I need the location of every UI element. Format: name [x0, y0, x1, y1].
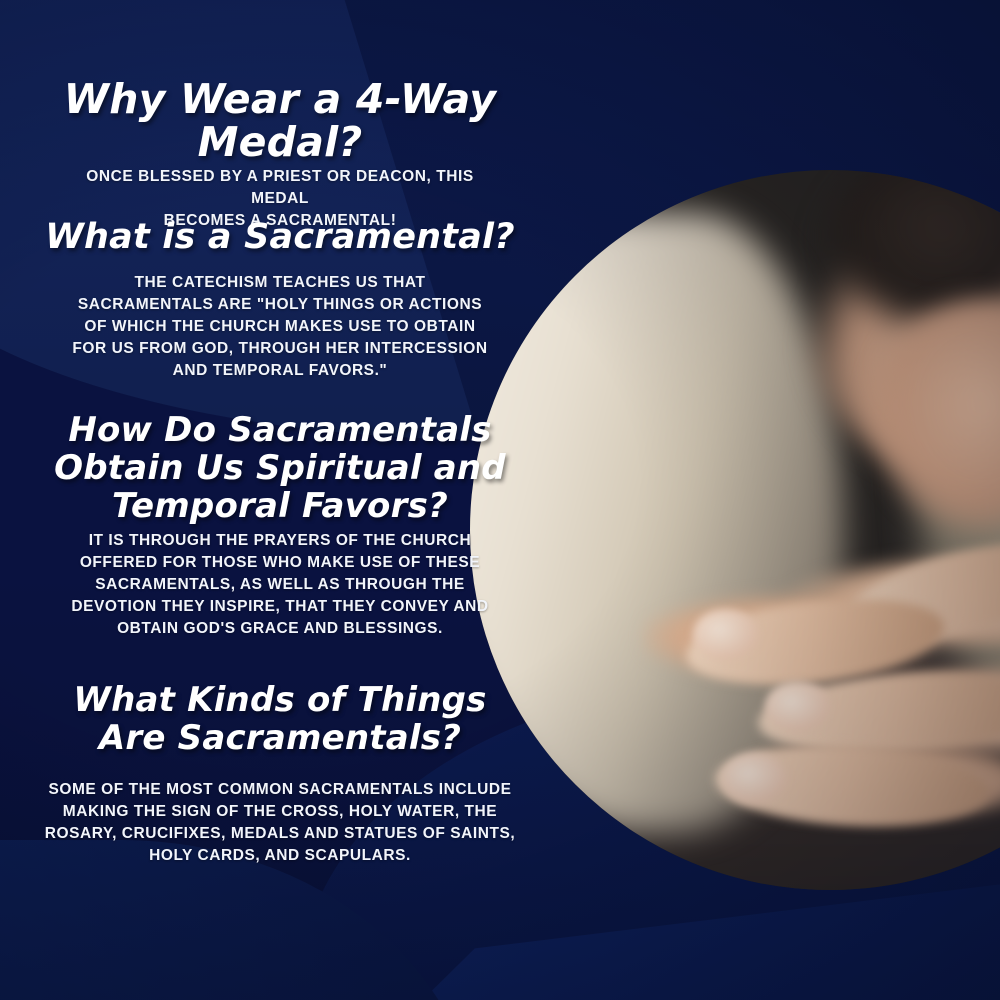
section-heading-how-do-sacramentals-obtain: How Do Sacramentals Obtain Us Spiritual … — [24, 411, 536, 525]
poster-text-column: Why Wear a 4-Way Medal? ONCE BLESSED BY … — [0, 0, 560, 1000]
section-body-how-do-sacramentals-obtain: IT IS THROUGH THE PRAYERS OF THE CHURCH … — [18, 530, 542, 640]
section-body-what-is-a-sacramental: THE CATECHISM TEACHES US THAT SACRAMENTA… — [26, 272, 534, 382]
poster-canvas: Why Wear a 4-Way Medal? ONCE BLESSED BY … — [0, 0, 1000, 1000]
poster-title: Why Wear a 4-Way Medal? — [24, 78, 536, 164]
section-body-what-kinds-of-things: SOME OF THE MOST COMMON SACRAMENTALS INC… — [18, 779, 542, 867]
section-heading-what-kinds-of-things: What Kinds of Things Are Sacramentals? — [24, 681, 536, 757]
section-heading-what-is-a-sacramental: What is a Sacramental? — [24, 219, 536, 256]
